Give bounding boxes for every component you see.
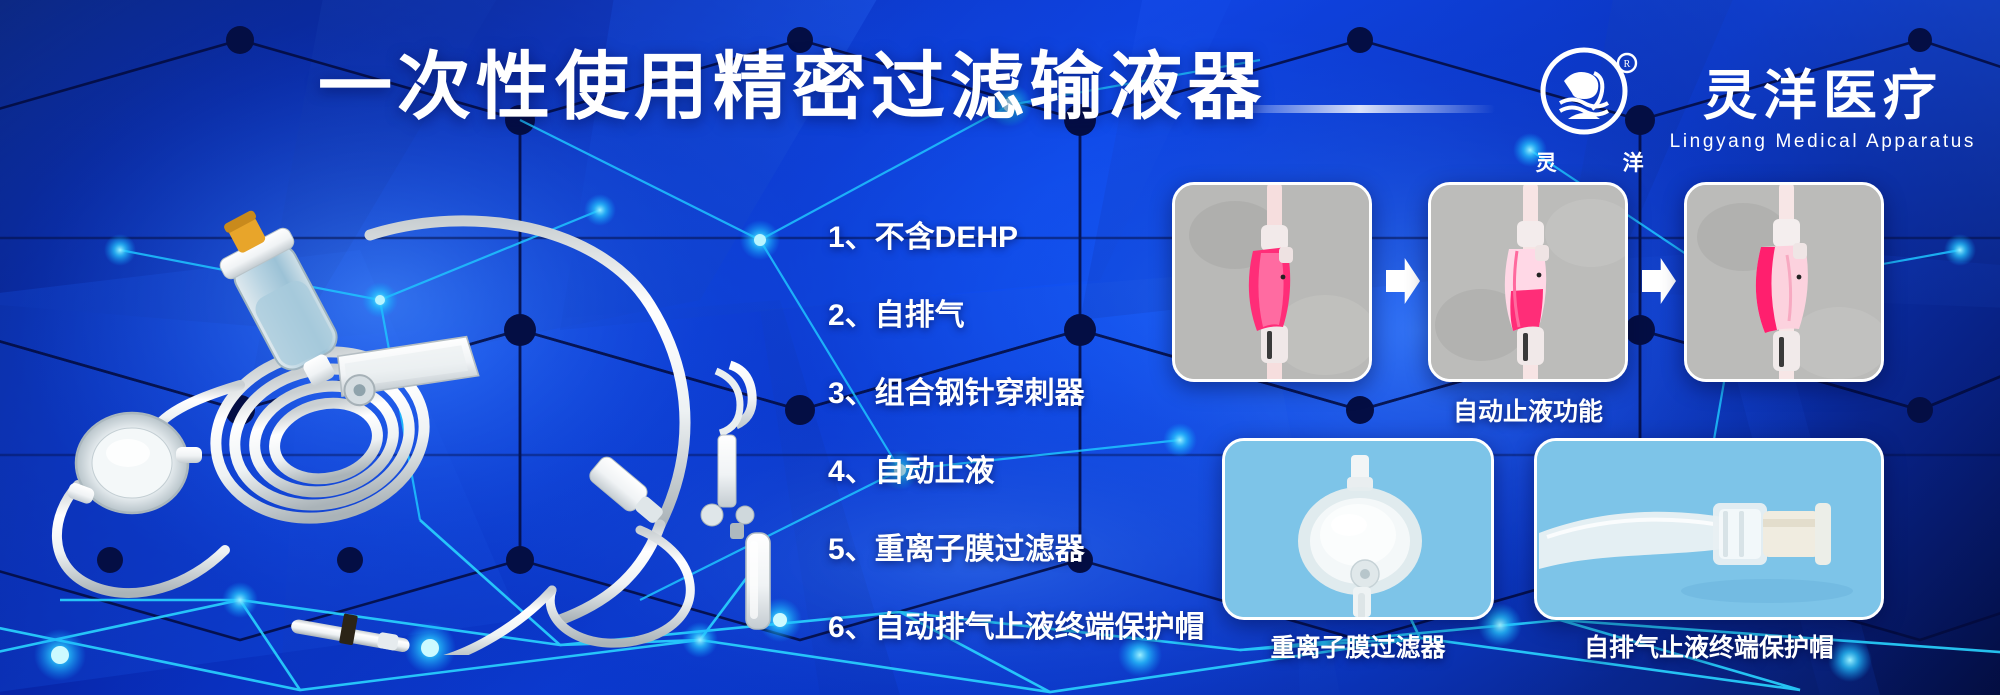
auto-stop-photo-1 — [1172, 182, 1372, 382]
svg-text:R: R — [1623, 59, 1630, 70]
brand-logo: R 灵 洋 灵洋医疗 Lingyang Medical Apparatus — [1534, 45, 1976, 177]
feature-item-5: 5、重离子膜过滤器 — [828, 524, 1188, 568]
feature-item-2: 2、自排气 — [828, 290, 1188, 334]
emblem-char-left: 灵 — [1536, 147, 1557, 177]
auto-stop-photo-2 — [1428, 182, 1628, 382]
auto-stop-photo-3 — [1684, 182, 1884, 382]
product-hero-image — [40, 185, 800, 655]
feature-item-3: 3、组合钢针穿刺器 — [828, 368, 1188, 412]
feature-item-1: 1、不含DEHP — [828, 212, 1188, 256]
brand-name-en: Lingyang Medical Apparatus — [1670, 131, 1976, 153]
page-title: 一次性使用精密过滤输液器 — [318, 48, 1266, 126]
end-cap-photo — [1534, 438, 1884, 620]
caption-filter: 重离子膜过滤器 — [1222, 628, 1494, 664]
feature-item-6: 6、自动排气止液终端保护帽 — [828, 602, 1188, 646]
product-banner: 一次性使用精密过滤输液器 R 灵 洋 灵洋医疗 — [0, 0, 2000, 695]
feature-item-4: 4、自动止液 — [828, 446, 1188, 490]
filter-photo — [1222, 438, 1494, 620]
emblem-char-right: 洋 — [1623, 147, 1644, 177]
caption-end-cap: 自排气止液终端保护帽 — [1534, 628, 1884, 664]
brand-name-cn: 灵洋医疗 — [1703, 69, 1943, 123]
feature-list: 1、不含DEHP 2、自排气 3、组合钢针穿刺器 4、自动止液 5、重离子膜过滤… — [828, 212, 1188, 646]
caption-auto-stop: 自动止液功能 — [1172, 392, 1884, 428]
company-emblem-icon: R — [1534, 45, 1646, 145]
